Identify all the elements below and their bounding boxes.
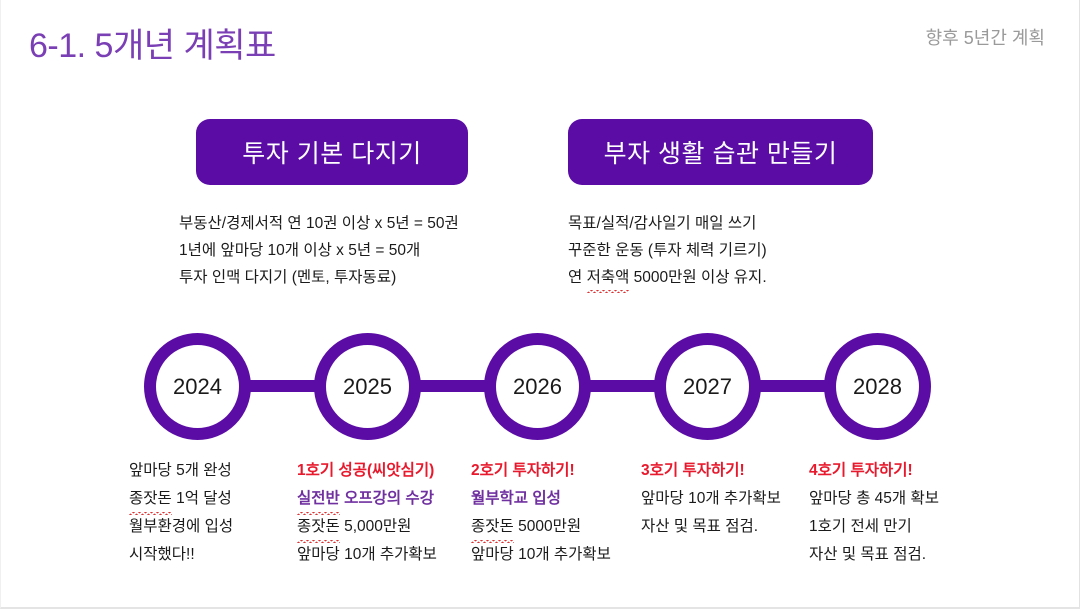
goal-note-line: 꾸준한 운동 (투자 체력 기르기) — [568, 237, 767, 264]
year-detail-line: 앞마당 10개 추가확보 — [641, 485, 781, 513]
year-detail-line: 자산 및 목표 점검. — [809, 541, 939, 569]
goal-note-line: 연 저축액 5000만원 이상 유지. — [568, 264, 767, 291]
timeline-connector — [415, 380, 490, 392]
page-title: 6-1. 5개년 계획표 — [29, 18, 276, 67]
year-detail-line: 종잣돈 5000만원 — [471, 513, 611, 541]
year-detail-line: 1호기 전세 만기 — [809, 513, 939, 541]
timeline-node-2024[interactable]: 2024 — [144, 333, 251, 440]
year-detail-line: 월부환경에 입성 — [129, 513, 233, 541]
year-detail-line: 앞마당 총 45개 확보 — [809, 485, 939, 513]
year-detail-line: 1호기 성공(씨앗심기) — [297, 457, 437, 485]
goal-note-line: 투자 인맥 다지기 (멘토, 투자동료) — [179, 264, 459, 291]
spellcheck-underline: 종잣돈 — [297, 513, 340, 541]
goal-group-pill-2[interactable]: 부자 생활 습관 만들기 — [568, 119, 873, 185]
goal-note-line: 부동산/경제서적 연 10권 이상 x 5년 = 50권 — [179, 210, 459, 237]
spellcheck-underline: 실전반 — [297, 485, 340, 513]
year-detail-column-2028: 4호기 투자하기!앞마당 총 45개 확보1호기 전세 만기자산 및 목표 점검… — [809, 457, 939, 569]
timeline-connector — [585, 380, 660, 392]
timeline-node-2028[interactable]: 2028 — [824, 333, 931, 440]
year-detail-line: 앞마당 10개 추가확보 — [297, 541, 437, 569]
goal-note-line: 1년에 앞마당 10개 이상 x 5년 = 50개 — [179, 237, 459, 264]
timeline-connector — [755, 380, 830, 392]
timeline: 20242025202620272028 — [1, 333, 1080, 441]
spellcheck-underline: 저축액 — [587, 264, 630, 291]
goal-note-line: 목표/실적/감사일기 매일 쓰기 — [568, 210, 767, 237]
year-detail-column-2025: 1호기 성공(씨앗심기)실전반 오프강의 수강종잣돈 5,000만원앞마당 10… — [297, 457, 437, 569]
year-detail-column-2027: 3호기 투자하기!앞마당 10개 추가확보자산 및 목표 점검. — [641, 457, 781, 541]
goal-group-notes-1: 부동산/경제서적 연 10권 이상 x 5년 = 50권1년에 앞마당 10개 … — [179, 210, 459, 291]
year-detail-line: 4호기 투자하기! — [809, 457, 939, 485]
year-detail-line: 2호기 투자하기! — [471, 457, 611, 485]
timeline-node-2025[interactable]: 2025 — [314, 333, 421, 440]
year-detail-line: 자산 및 목표 점검. — [641, 513, 781, 541]
year-detail-line: 앞마당 10개 추가확보 — [471, 541, 611, 569]
year-detail-line: 종잣돈 1억 달성 — [129, 485, 233, 513]
year-detail-line: 실전반 오프강의 수강 — [297, 485, 437, 513]
slide-subtitle: 향후 5년간 계획 — [926, 24, 1045, 50]
timeline-connector — [245, 380, 320, 392]
goal-group-pill-1[interactable]: 투자 기본 다지기 — [196, 119, 468, 185]
year-detail-line: 시작했다!! — [129, 541, 233, 569]
year-detail-line: 월부학교 입성 — [471, 485, 611, 513]
year-detail-line: 종잣돈 5,000만원 — [297, 513, 437, 541]
year-detail-line: 3호기 투자하기! — [641, 457, 781, 485]
year-detail-line: 앞마당 5개 완성 — [129, 457, 233, 485]
timeline-node-2026[interactable]: 2026 — [484, 333, 591, 440]
spellcheck-underline: 종잣돈 — [471, 513, 514, 541]
year-detail-column-2024: 앞마당 5개 완성종잣돈 1억 달성월부환경에 입성시작했다!! — [129, 457, 233, 569]
timeline-node-2027[interactable]: 2027 — [654, 333, 761, 440]
slide-canvas: 6-1. 5개년 계획표 향후 5년간 계획 투자 기본 다지기 부자 생활 습… — [0, 0, 1080, 609]
goal-group-notes-2: 목표/실적/감사일기 매일 쓰기꾸준한 운동 (투자 체력 기르기)연 저축액 … — [568, 210, 767, 291]
spellcheck-underline: 종잣돈 — [129, 485, 172, 513]
year-detail-column-2026: 2호기 투자하기!월부학교 입성종잣돈 5000만원앞마당 10개 추가확보 — [471, 457, 611, 569]
